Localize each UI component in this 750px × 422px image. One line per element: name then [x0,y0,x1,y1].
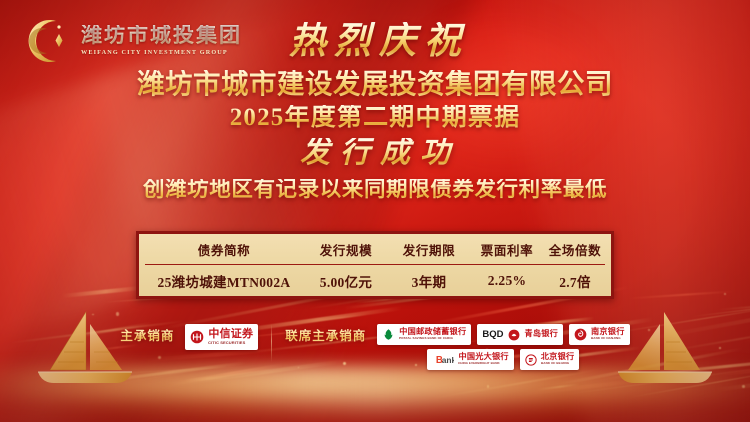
section-divider [271,324,272,362]
partner-logo-name-en: CHINA EVERBRIGHT BANK [458,363,500,366]
partner-logo-name-cn: 青岛银行 [524,330,558,338]
joint-underwriter-label: 联席主承销商 [285,324,366,343]
cell-issue-size: 5.00亿元 [303,271,389,291]
bond-details-table: 债券简称 发行规模 发行期限 票面利率 全场倍数 25潍坊城建MTN002A 5… [136,231,614,299]
cell-bond-name: 25潍坊城建MTN002A [145,271,303,291]
column-header-issue-size: 发行规模 [303,240,389,259]
headline-record: 创潍坊地区有记录以来同期限债券发行利率最低 [0,179,750,201]
everbright-bank-logo-icon: Bank [432,353,454,366]
streak-line [536,383,580,391]
streak-line [717,293,750,311]
headline-company: 潍坊市城市建设发展投资集团有限公司 [0,70,750,98]
cell-subscription-multiple: 2.7倍 [545,271,605,291]
lead-underwriter-label: 主承销商 [120,324,174,343]
cell-coupon-rate: 2.25% [469,273,545,289]
partner-logo-card[interactable]: 中信证券CITIC SECURITIES [185,324,258,350]
partner-logo-name-en: POSTAL SAVINGS BANK OF CHINA [399,338,453,341]
partner-logo-text: 中国光大银行CHINA EVERBRIGHT BANK [458,353,508,366]
joint-logo-row-1: 中国邮政储蓄银行POSTAL SAVINGS BANK OF CHINABQD青… [377,324,629,345]
celebration-banner: 潍坊市城投集团 WEIFANG CITY INVESTMENT GROUP 热烈… [0,0,750,422]
table-row: 25潍坊城建MTN002A 5.00亿元 3年期 2.25% 2.7倍 [145,265,605,296]
partner-logo-text: 青岛银行 [524,330,558,338]
underwriters-section: 主承销商 中信证券CITIC SECURITIES 联席主承销商 中国邮政储蓄银… [0,324,750,374]
streak-line [692,294,750,317]
partner-logo-card[interactable]: BQD青岛银行 [477,324,563,345]
bank-of-qingdao-logo-icon [508,329,520,341]
column-header-issue-term: 发行期限 [389,240,469,259]
joint-underwriter-logos: 中国邮政储蓄银行POSTAL SAVINGS BANK OF CHINABQD青… [377,324,629,370]
partner-logo-abbr: BQD [482,330,503,340]
partner-logo-name-cn: 中信证券 [208,329,253,340]
column-header-subscription-multiple: 全场倍数 [545,240,605,259]
lead-underwriter-logos: 中信证券CITIC SECURITIES [185,324,258,350]
streak-line [627,290,734,299]
partner-logo-card[interactable]: 中国邮政储蓄银行POSTAL SAVINGS BANK OF CHINA [377,324,471,345]
sparkle-dot [742,385,745,388]
partner-logo-text: 北京银行BANK OF BEIJING [541,353,575,366]
streak-line [310,314,368,323]
logo-text-cn: 潍坊市城投集团 [81,25,242,46]
column-header-coupon-rate: 票面利率 [469,240,545,259]
headline-issue: 2025年度第二期中期票据 [0,105,750,130]
sparkle-dot [116,312,119,315]
joint-logo-row-2: Bank中国光大银行CHINA EVERBRIGHT BANK北京银行BANK … [427,349,579,370]
column-header-bond-name: 债券简称 [145,240,303,259]
citic-securities-logo-icon [190,330,204,344]
partner-logo-text: 南京银行BANK OF NANJING [591,328,625,341]
partner-logo-card[interactable]: 北京银行BANK OF BEIJING [520,349,580,370]
partner-logo-card[interactable]: Bank中国光大银行CHINA EVERBRIGHT BANK [427,349,513,370]
crescent-moon-logo-icon [26,18,72,64]
table-header-row: 债券简称 发行规模 发行期限 票面利率 全场倍数 [145,234,605,265]
bank-of-beijing-logo-icon [525,354,537,366]
horizon-glow-soft [0,374,750,416]
streak-line [184,375,230,382]
partner-logo-card[interactable]: 南京银行BANK OF NANJING [569,324,630,345]
company-logo: 潍坊市城投集团 WEIFANG CITY INVESTMENT GROUP [26,18,242,64]
postal-savings-bank-logo-icon [382,328,395,341]
partner-logo-name-en: BANK OF NANJING [591,338,621,341]
partner-logo-text: 中国邮政储蓄银行POSTAL SAVINGS BANK OF CHINA [399,328,466,341]
cell-issue-term: 3年期 [389,271,469,291]
partner-logo-name-en: CITIC SECURITIES [208,341,245,345]
logo-text-en: WEIFANG CITY INVESTMENT GROUP [81,50,242,56]
sparkle-dot [92,314,93,315]
sparkle-dot [724,293,726,295]
streak-line [520,377,649,396]
headline-success: 发行成功 [0,138,750,168]
sparkle-dot [487,385,489,387]
partner-logo-name-en: BANK OF BEIJING [541,363,569,366]
streak-line [647,377,691,382]
svg-text:ank: ank [442,355,454,365]
streak-line [62,286,141,298]
partner-logo-text: 中信证券CITIC SECURITIES [208,329,253,345]
bank-of-nanjing-logo-icon [574,328,587,341]
